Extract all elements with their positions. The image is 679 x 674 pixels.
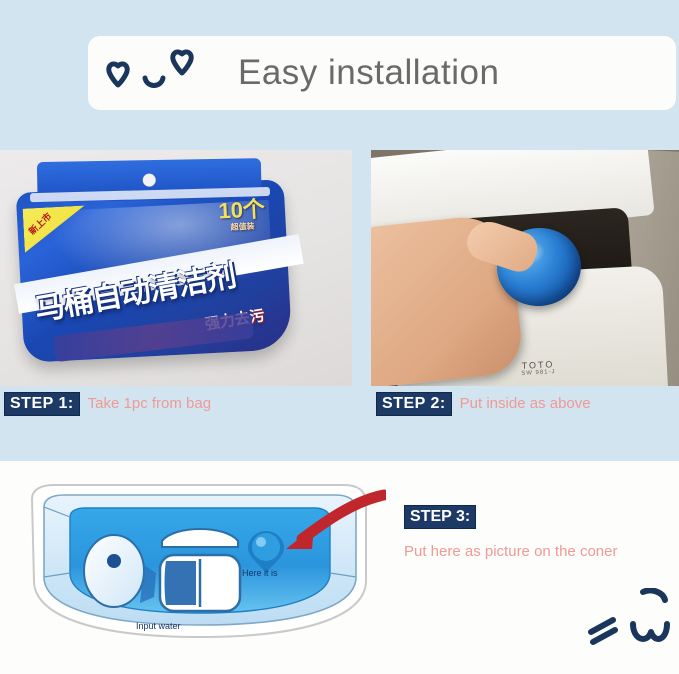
page-title: Easy installation — [238, 53, 499, 93]
heart-eyes-smile-doodle — [100, 44, 220, 102]
count-badge: 10个 超值装 — [218, 198, 266, 233]
step-3-caption: STEP 3: Put here as picture on the coner — [404, 505, 679, 560]
tank-cutaway-diagram: Here it is Input water — [14, 473, 386, 645]
step-2-caption: STEP 2: Put inside as above — [376, 392, 591, 416]
tablet-marker-highlight — [256, 537, 266, 547]
hand-placing-tablet-photo: TOTO SW 981-J — [371, 150, 679, 386]
step-1-badge: STEP 1: — [4, 392, 80, 416]
step-2-text: Put inside as above — [460, 395, 591, 412]
product-bag: 新上市 10个 超值装 马桶自动清洁剂 强力去污 — [16, 179, 293, 363]
float-ball — [84, 535, 144, 607]
product-package-photo: 新上市 10个 超值装 马桶自动清洁剂 强力去污 — [0, 150, 352, 386]
step-3-badge: STEP 3: — [404, 505, 476, 529]
bottom-section: Here it is Input water STEP 3: Put here … — [0, 461, 679, 674]
here-it-is-label: Here it is — [242, 568, 278, 578]
step-2-badge: STEP 2: — [376, 392, 452, 416]
count-number: 10个 — [218, 198, 266, 222]
step-1-text: Take 1pc from bag — [88, 395, 211, 412]
flush-valve-left-button — [165, 561, 197, 605]
step-3-text: Put here as picture on the coner — [404, 543, 679, 560]
instruction-page: Easy installation 新上市 10个 超值装 马桶自动清洁剂 强力… — [0, 0, 679, 674]
tank-diagram-svg — [14, 473, 386, 645]
header-card: Easy installation — [88, 36, 676, 110]
float-ball-port — [107, 554, 121, 568]
toto-marking: TOTO SW 981-J — [521, 359, 556, 377]
blue-sketch-doodle — [581, 588, 677, 668]
input-water-label: Input water — [136, 621, 181, 631]
tablet-marker-body — [252, 533, 280, 561]
step-1-caption: STEP 1: Take 1pc from bag — [4, 392, 211, 416]
